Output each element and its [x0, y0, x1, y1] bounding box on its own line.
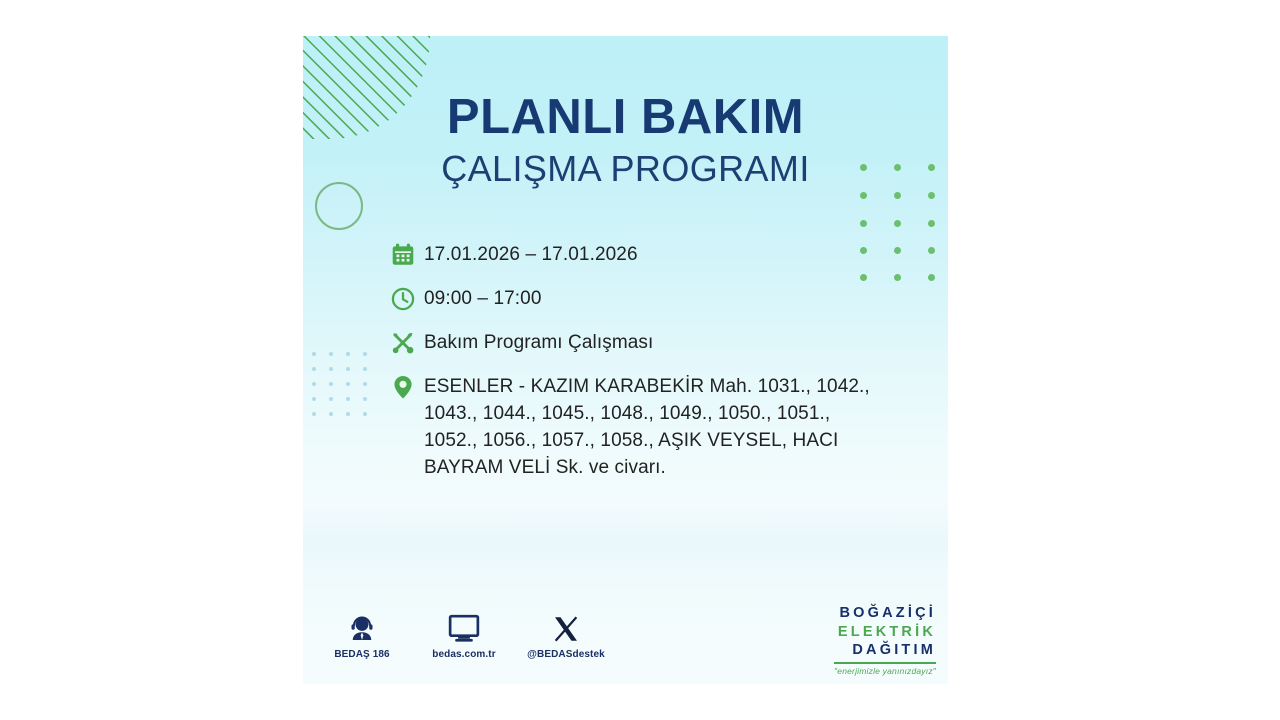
- brand-line-elektrik: ELEKTRİK: [834, 625, 936, 640]
- tools-icon: [390, 328, 424, 358]
- contact-x-label: @BEDASdestek: [527, 649, 605, 660]
- info-list: 17.01.2026 – 17.01.2026 09:00 – 17:00: [390, 240, 900, 481]
- screenshot-root: PLANLI BAKIM ÇALIŞMA PROGRAMI: [0, 0, 1280, 720]
- contact-website[interactable]: bedas.com.tr: [425, 606, 503, 662]
- poster-heading: PLANLI BAKIM ÇALIŞMA PROGRAMI: [303, 92, 948, 191]
- monitor-website-icon: [425, 606, 503, 644]
- brand-line-dagitim: DAĞITIM: [834, 643, 936, 658]
- headset-support-icon: [323, 606, 401, 644]
- work-type-text: Bakım Programı Çalışması: [424, 328, 653, 356]
- maintenance-notice-card: PLANLI BAKIM ÇALIŞMA PROGRAMI: [303, 36, 948, 684]
- page-subtitle: ÇALIŞMA PROGRAMI: [303, 147, 948, 190]
- bedas-logo: BOĞAZİÇİ ELEKTRİK DAĞITIM "enerjimizle y…: [834, 606, 936, 675]
- brand-line-bogazici: BOĞAZİÇİ: [834, 606, 936, 621]
- location-pin-icon: [390, 372, 424, 402]
- time-range-text: 09:00 – 17:00: [424, 284, 542, 312]
- x-twitter-icon: [527, 606, 605, 644]
- contact-website-label: bedas.com.tr: [432, 649, 495, 660]
- brand-tagline: "enerjimizle yanınızdayız": [834, 667, 936, 676]
- clock-icon: [390, 284, 424, 314]
- contact-channels: BEDAŞ 186 bedas.com.tr: [323, 606, 605, 662]
- date-range-text: 17.01.2026 – 17.01.2026: [424, 240, 638, 268]
- poster-footer: BEDAŞ 186 bedas.com.tr: [303, 606, 948, 684]
- location-text: ESENLER - KAZIM KARABEKİR Mah. 1031., 10…: [424, 372, 884, 481]
- page-title: PLANLI BAKIM: [303, 92, 948, 143]
- info-row-work-type: Bakım Programı Çalışması: [390, 328, 900, 358]
- dot-grid-left-decoration: [312, 352, 370, 419]
- brand-divider: [834, 662, 936, 664]
- contact-phone-label: BEDAŞ 186: [334, 649, 389, 660]
- contact-phone[interactable]: BEDAŞ 186: [323, 606, 401, 662]
- info-row-time: 09:00 – 17:00: [390, 284, 900, 314]
- contact-x[interactable]: @BEDASdestek: [527, 606, 605, 662]
- calendar-icon: [390, 240, 424, 270]
- info-row-date: 17.01.2026 – 17.01.2026: [390, 240, 900, 270]
- info-row-location: ESENLER - KAZIM KARABEKİR Mah. 1031., 10…: [390, 372, 900, 481]
